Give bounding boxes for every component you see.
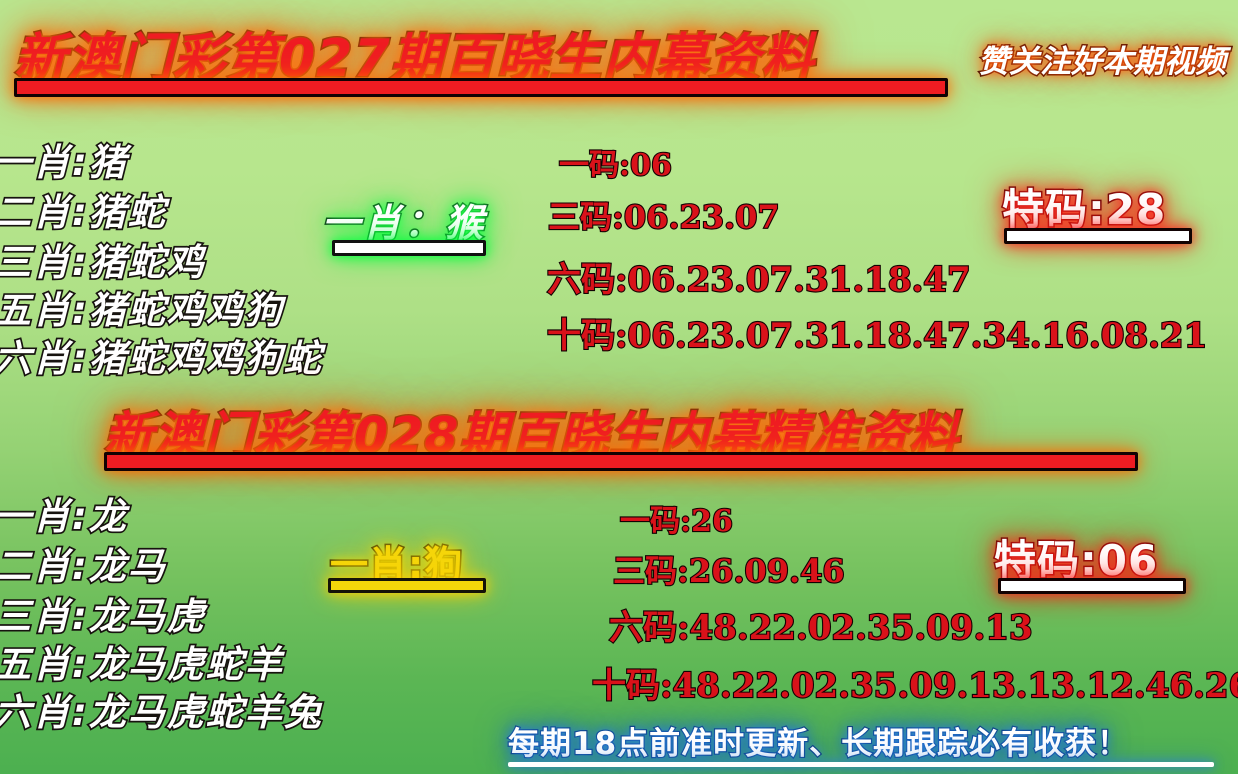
poster-canvas: 新澳门彩第027期百晓生内幕资料 赞关注好本期视频 一肖:猪 二肖:猪蛇 三肖:… <box>0 0 1238 774</box>
single-zodiac-pick-027-underline <box>332 240 486 256</box>
single-zodiac-pick-027: 一肖：猴 <box>322 192 486 247</box>
code-line: 一码:26 <box>620 496 733 540</box>
code-line: 三码:06.23.07 <box>548 192 780 238</box>
promo-text: 赞关注好本期视频 <box>978 36 1226 81</box>
section-header-028-underline <box>104 452 1138 471</box>
zodiac-item: 二肖:猪蛇 <box>0 182 167 236</box>
special-number-027-underline <box>1004 228 1192 244</box>
zodiac-item: 三肖:猪蛇鸡 <box>0 232 206 286</box>
special-number-028-underline <box>998 578 1186 594</box>
single-zodiac-pick-028-underline <box>328 578 486 593</box>
zodiac-item: 五肖:龙马虎蛇羊 <box>0 634 284 688</box>
zodiac-item: 六肖:龙马虎蛇羊兔 <box>0 682 323 736</box>
zodiac-item: 三肖:龙马虎 <box>0 586 206 640</box>
code-line: 六码:48.22.02.35.09.13 <box>609 600 1033 649</box>
zodiac-item: 一肖:猪 <box>0 132 128 186</box>
section-header-027-underline <box>14 78 948 97</box>
footer-underline <box>508 762 1214 767</box>
code-line: 十码:06.23.07.31.18.47.34.16.08.21 <box>547 308 1207 357</box>
zodiac-item: 五肖:猪蛇鸡鸡狗 <box>0 280 284 334</box>
zodiac-item: 一肖:龙 <box>0 486 128 540</box>
code-line: 六码:06.23.07.31.18.47 <box>547 252 971 301</box>
zodiac-item: 二肖:龙马 <box>0 536 167 590</box>
code-line: 三码:26.09.46 <box>613 546 845 592</box>
code-line: 十码:48.22.02.35.09.13.13.12.46.26.03 <box>592 658 1238 707</box>
footer-text: 每期18点前准时更新、长期跟踪必有收获！ <box>508 718 1129 763</box>
zodiac-item: 六肖:猪蛇鸡鸡狗蛇 <box>0 328 323 382</box>
code-line: 一码:06 <box>559 140 672 184</box>
